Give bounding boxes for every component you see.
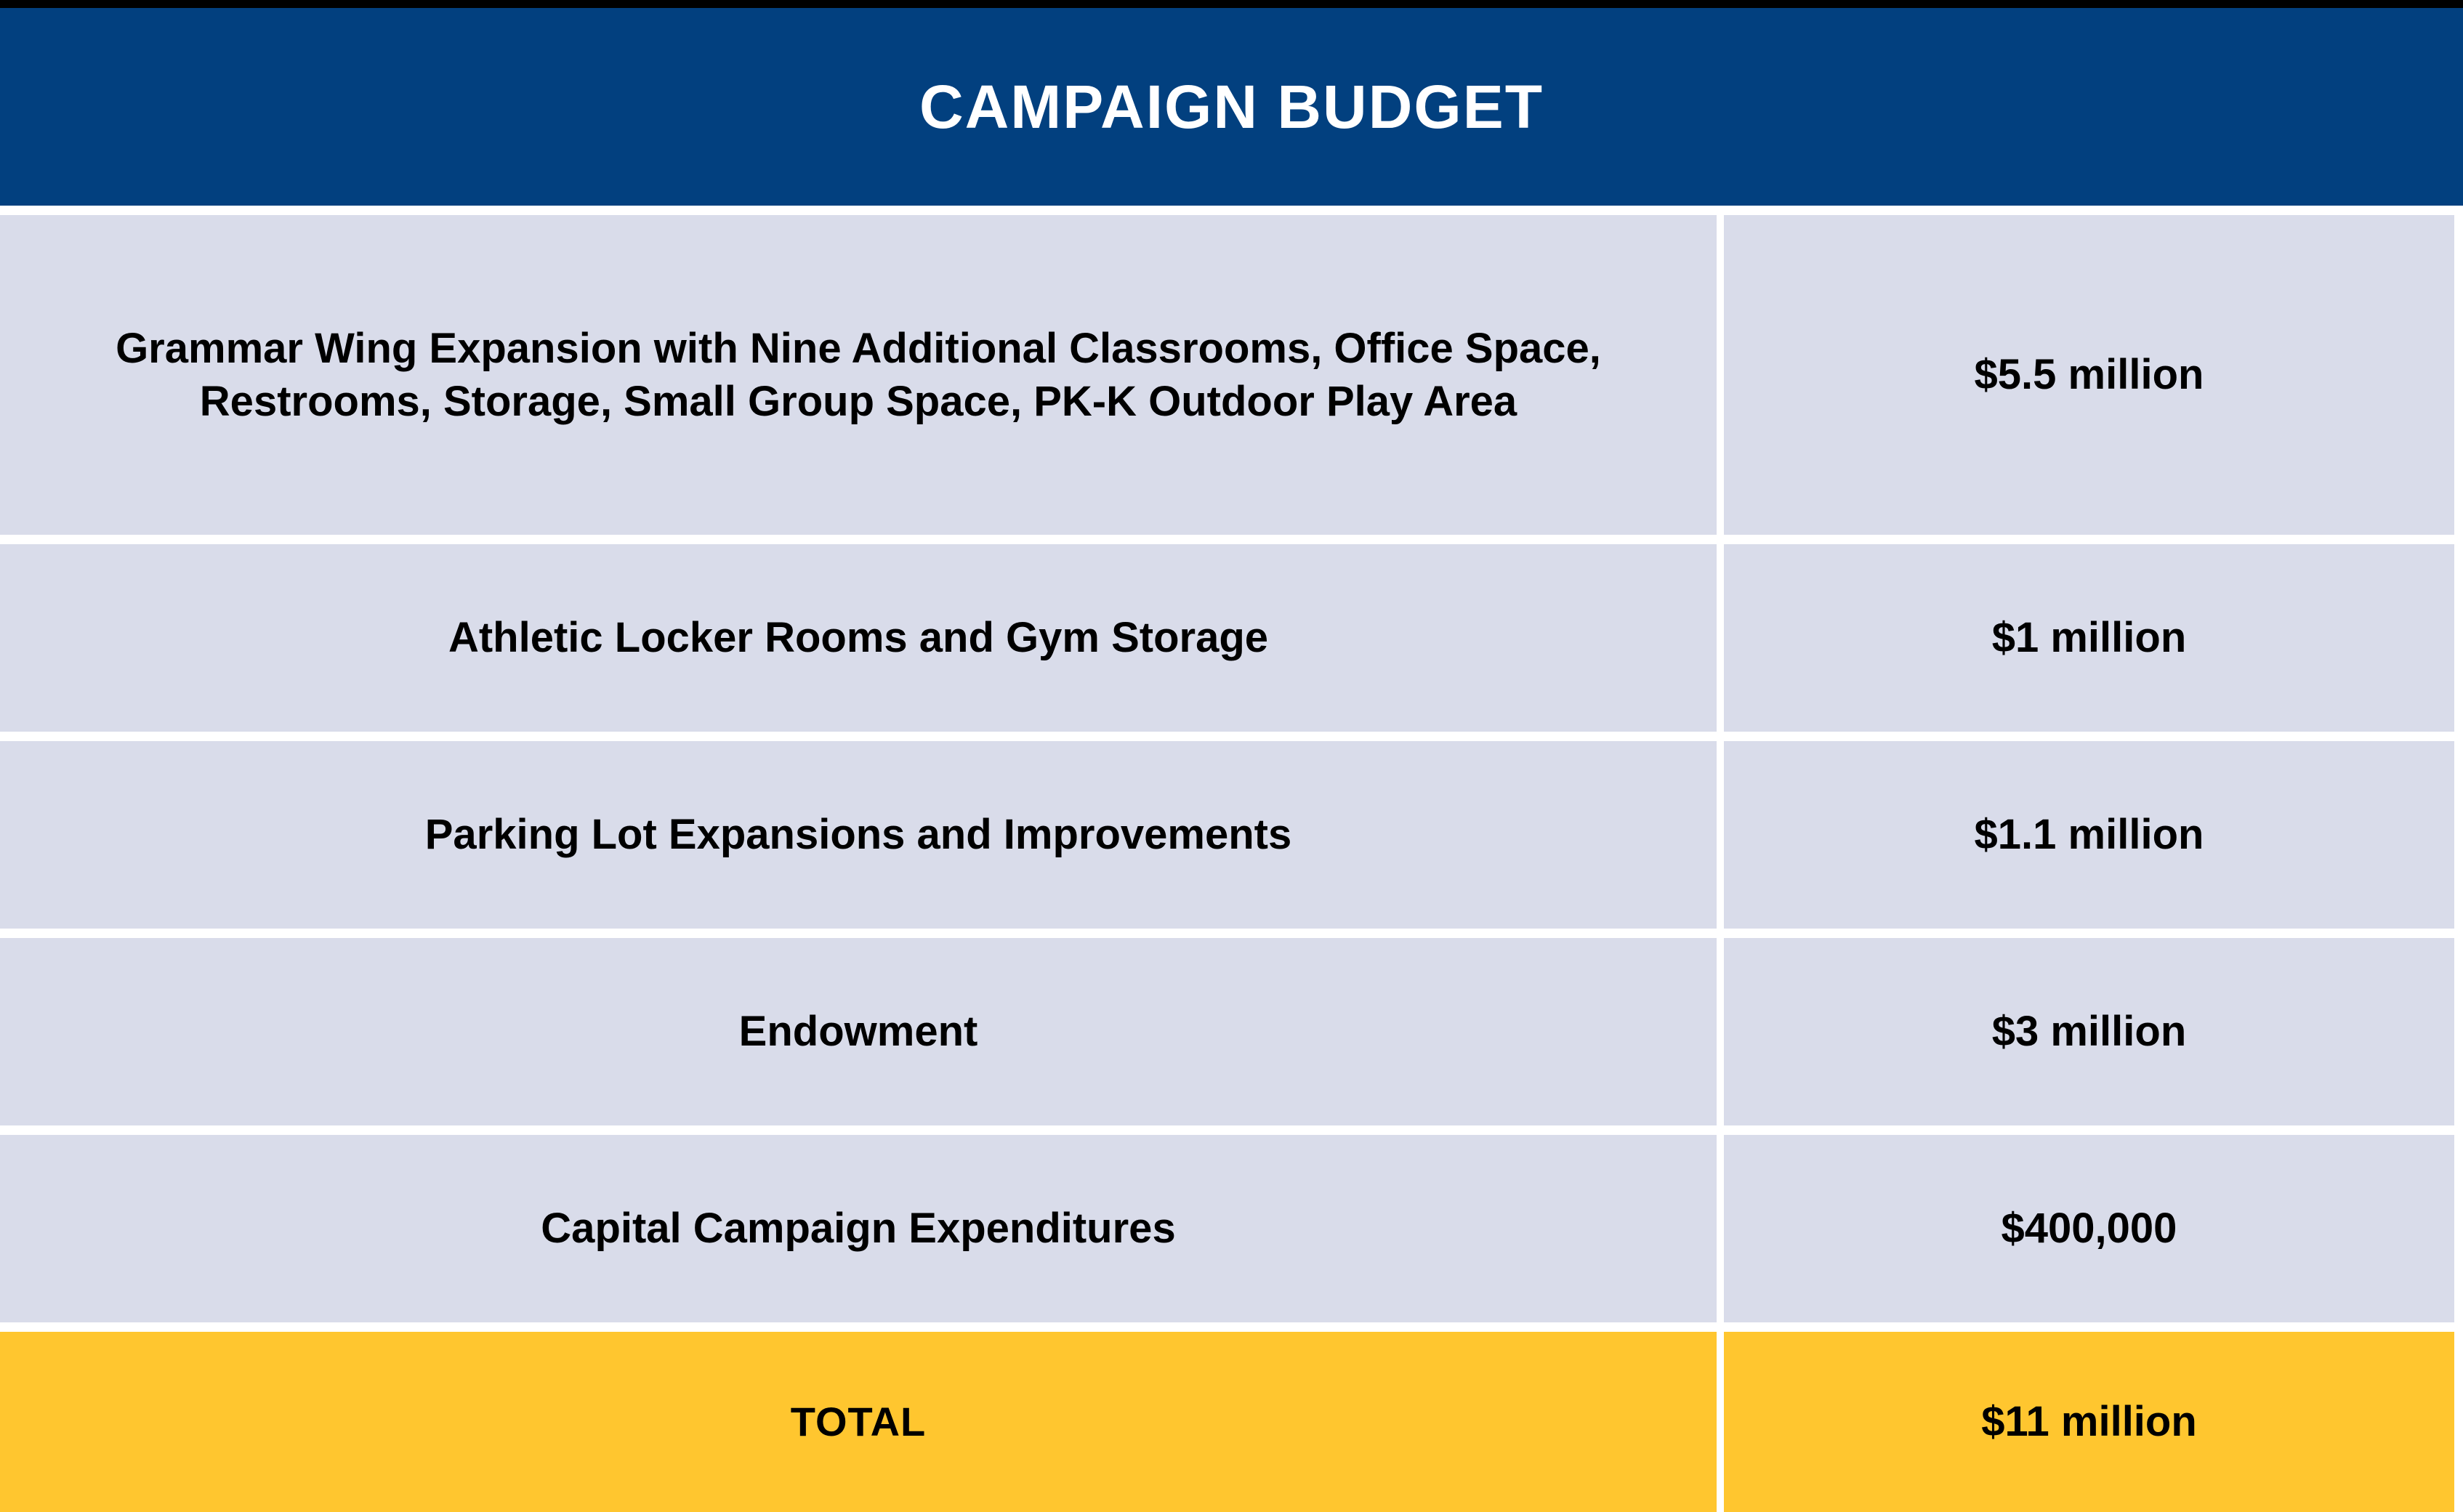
budget-item-amount: $5.5 million <box>1975 348 2204 401</box>
budget-item-label-cell: Capital Campaign Expenditures <box>0 1135 1717 1322</box>
budget-total-amount-cell: $11 million <box>1724 1332 2454 1512</box>
top-rule-divider <box>0 0 2463 8</box>
budget-item-label: Capital Campaign Expenditures <box>541 1202 1175 1255</box>
budget-item-amount: $3 million <box>1992 1005 2187 1058</box>
budget-total-amount: $11 million <box>1981 1395 2197 1448</box>
table-row: Capital Campaign Expenditures $400,000 <box>0 1135 2463 1322</box>
budget-item-amount-cell: $5.5 million <box>1724 215 2454 535</box>
budget-item-label: Parking Lot Expansions and Improvements <box>425 808 1291 861</box>
budget-item-label: Grammar Wing Expansion with Nine Additio… <box>17 322 1699 428</box>
table-row: Grammar Wing Expansion with Nine Additio… <box>0 215 2463 535</box>
budget-item-amount-cell: $400,000 <box>1724 1135 2454 1322</box>
campaign-budget-sheet: CAMPAIGN BUDGET Grammar Wing Expansion w… <box>0 0 2463 1472</box>
table-row: Endowment $3 million <box>0 938 2463 1125</box>
budget-total-label-cell: TOTAL <box>0 1332 1717 1512</box>
campaign-budget-header-banner: CAMPAIGN BUDGET <box>0 8 2463 206</box>
budget-item-amount: $400,000 <box>2002 1202 2177 1255</box>
table-row: Athletic Locker Rooms and Gym Storage $1… <box>0 544 2463 732</box>
table-row-total: TOTAL $11 million <box>0 1332 2463 1512</box>
budget-item-label-cell: Athletic Locker Rooms and Gym Storage <box>0 544 1717 732</box>
budget-item-amount: $1 million <box>1992 611 2187 664</box>
budget-item-label-cell: Parking Lot Expansions and Improvements <box>0 741 1717 929</box>
budget-item-amount: $1.1 million <box>1975 808 2204 861</box>
page-title: CAMPAIGN BUDGET <box>919 76 1544 137</box>
table-row: Parking Lot Expansions and Improvements … <box>0 741 2463 929</box>
budget-item-label-cell: Grammar Wing Expansion with Nine Additio… <box>0 215 1717 535</box>
budget-item-amount-cell: $3 million <box>1724 938 2454 1125</box>
budget-item-amount-cell: $1 million <box>1724 544 2454 732</box>
budget-item-label: Athletic Locker Rooms and Gym Storage <box>448 611 1268 664</box>
budget-item-amount-cell: $1.1 million <box>1724 741 2454 929</box>
budget-item-label-cell: Endowment <box>0 938 1717 1125</box>
budget-table: Grammar Wing Expansion with Nine Additio… <box>0 215 2463 1512</box>
budget-total-label: TOTAL <box>791 1396 926 1448</box>
budget-item-label: Endowment <box>739 1005 978 1058</box>
